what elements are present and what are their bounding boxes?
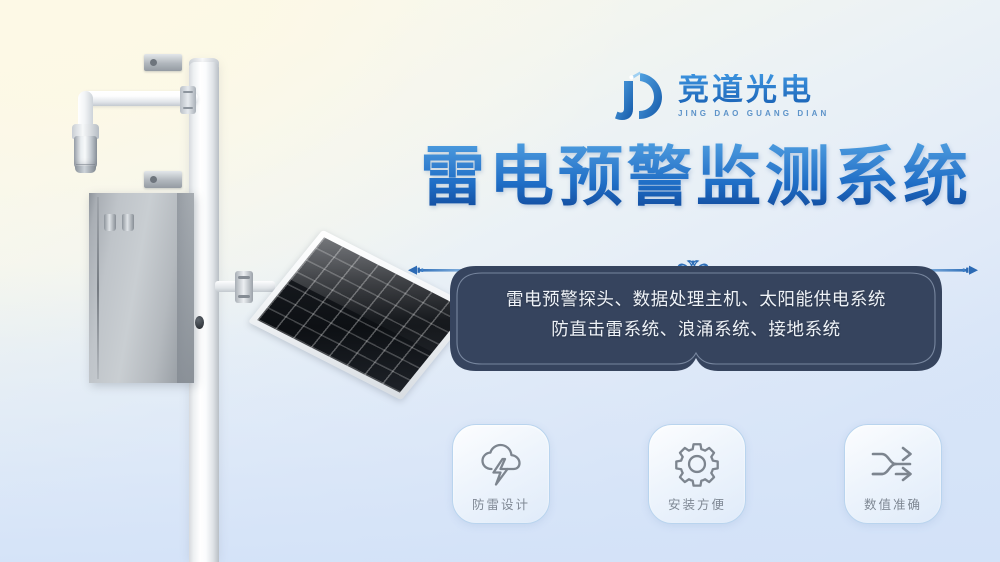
feature-badge-lightning-protection[interactable]: 防雷设计 bbox=[452, 424, 550, 524]
feature-badge-label: 数值准确 bbox=[864, 494, 922, 513]
cable-gland bbox=[122, 214, 134, 231]
brand-name-pinyin: JING DAO GUANG DIAN bbox=[678, 109, 829, 118]
subtitle-banner: 雷电预警探头、数据处理主机、太阳能供电系统 防直击雷系统、浪涌系统、接地系统 bbox=[450, 266, 942, 371]
solar-pole-clamp bbox=[235, 271, 253, 303]
cabinet-door-seam bbox=[97, 197, 99, 379]
pole-port bbox=[195, 316, 204, 329]
arm-bracket bbox=[180, 86, 196, 114]
cabinet-side-panel bbox=[177, 193, 194, 383]
cabinet-bracket-top bbox=[144, 54, 182, 71]
cloud-lightning-icon bbox=[476, 440, 526, 488]
shuffle-arrows-icon bbox=[868, 440, 918, 488]
brand-logo: 竞道光电 JING DAO GUANG DIAN bbox=[610, 68, 829, 124]
sensor-cap bbox=[75, 166, 96, 173]
product-banner: 竞道光电 JING DAO GUANG DIAN 雷电预警监测系统 bbox=[0, 0, 1000, 562]
feature-badges: 防雷设计 安装方便 bbox=[452, 424, 942, 526]
product-photo bbox=[52, 28, 382, 562]
banner-content: 竞道光电 JING DAO GUANG DIAN 雷电预警监测系统 bbox=[392, 0, 1000, 562]
jd-monogram-logo-icon bbox=[610, 68, 666, 124]
brand-name-cn: 竞道光电 bbox=[678, 74, 829, 107]
subtitle-text: 雷电预警探头、数据处理主机、太阳能供电系统 防直击雷系统、浪涌系统、接地系统 bbox=[450, 285, 942, 345]
feature-badge-accurate-data[interactable]: 数值准确 bbox=[844, 424, 942, 524]
brand-text: 竞道光电 JING DAO GUANG DIAN bbox=[678, 74, 829, 119]
gear-icon bbox=[672, 440, 722, 488]
cable-gland bbox=[104, 214, 116, 231]
sensor-head bbox=[74, 136, 97, 169]
feature-badge-label: 防雷设计 bbox=[472, 494, 530, 513]
subtitle-line-1: 雷电预警探头、数据处理主机、太阳能供电系统 bbox=[450, 285, 942, 315]
feature-badge-label: 安装方便 bbox=[668, 494, 726, 513]
subtitle-line-2: 防直击雷系统、浪涌系统、接地系统 bbox=[450, 315, 942, 345]
cabinet-bracket-bottom bbox=[144, 171, 182, 188]
page-title: 雷电预警监测系统 bbox=[392, 140, 1000, 215]
feature-badge-easy-install[interactable]: 安装方便 bbox=[648, 424, 746, 524]
